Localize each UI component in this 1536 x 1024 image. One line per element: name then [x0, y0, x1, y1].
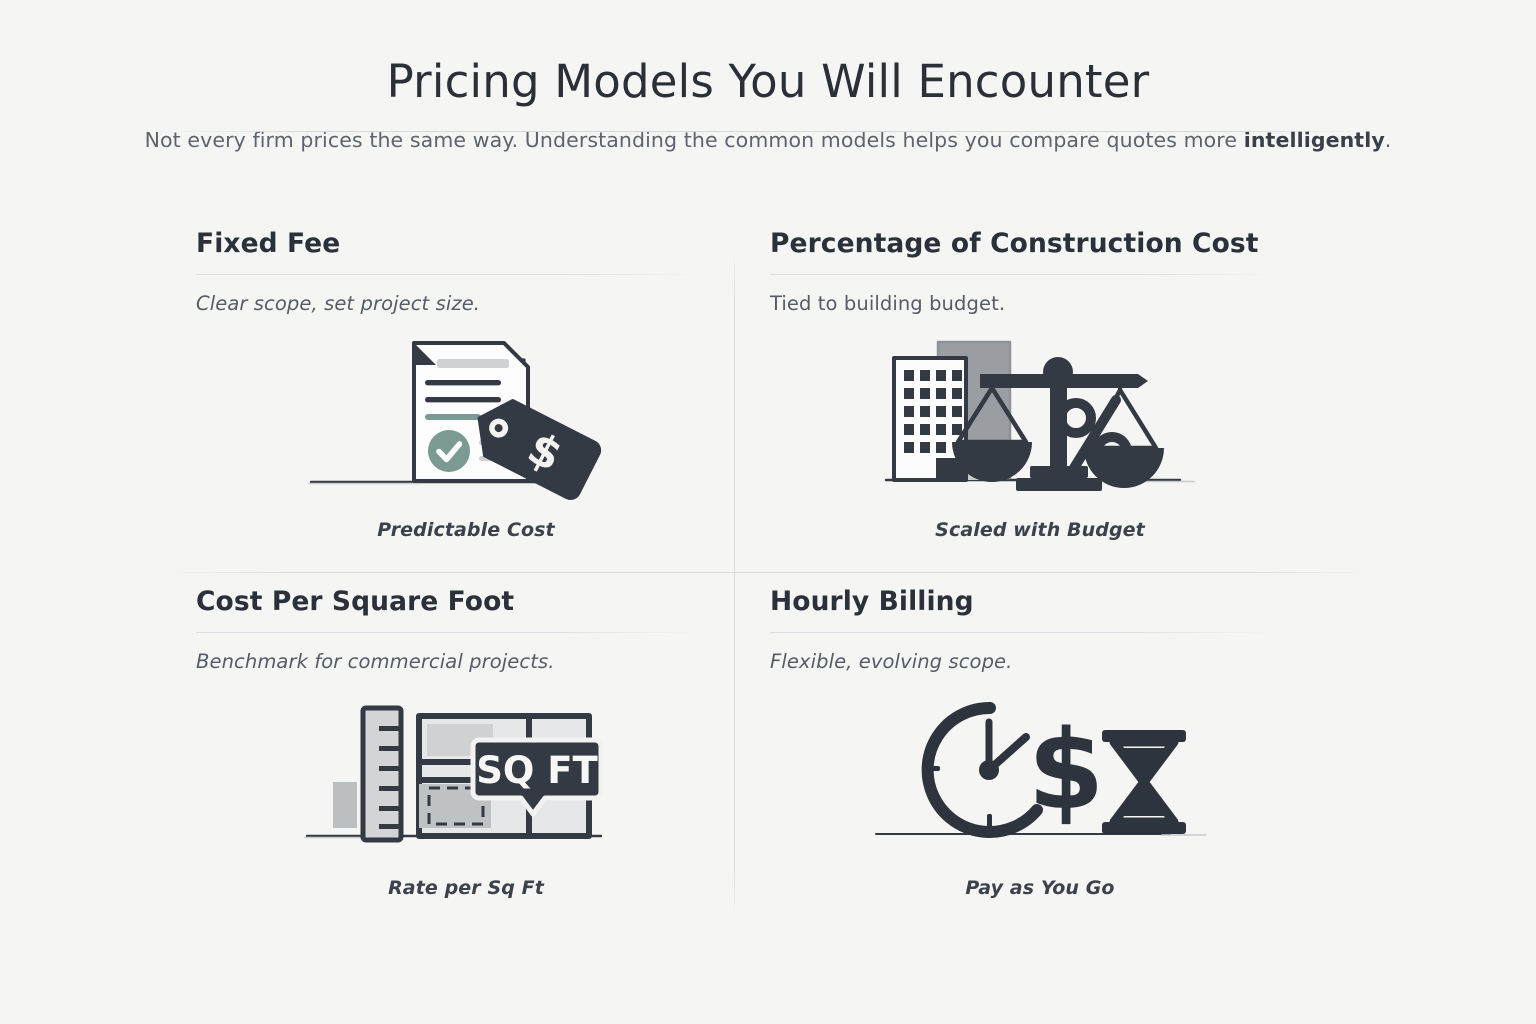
clock-dollar-hourglass-illustration: $ [770, 687, 1310, 865]
card-title: Hourly Billing [770, 586, 1310, 618]
card-caption: Predictable Cost [196, 507, 736, 541]
page-title: Pricing Models You Will Encounter [0, 0, 1536, 108]
header-divider [166, 131, 1370, 132]
pricing-models-infographic: Pricing Models You Will Encounter Not ev… [0, 0, 1536, 1024]
subtitle-tail: . [1385, 128, 1392, 152]
svg-text:$: $ [1028, 706, 1105, 834]
card-subtitle: Benchmark for commercial projects. [196, 633, 736, 673]
card-subtitle: Tied to building budget. [770, 275, 1310, 315]
card-caption: Scaled with Budget [770, 507, 1310, 541]
page-header: Pricing Models You Will Encounter Not ev… [0, 0, 1536, 152]
grid-horizontal-divider [166, 572, 1370, 573]
card-title: Cost Per Square Foot [196, 586, 736, 618]
card-title: Percentage of Construction Cost [770, 228, 1310, 260]
card-title: Fixed Fee [196, 228, 736, 260]
floorplan-ruler-illustration: SQ FT [196, 687, 736, 865]
page-subtitle: Not every firm prices the same way. Unde… [0, 108, 1536, 152]
cards-grid: Fixed Fee Clear scope, set project size. [0, 228, 1536, 928]
card-percentage-of-construction-cost: Percentage of Construction Cost Tied to … [770, 228, 1310, 541]
card-cost-per-square-foot: Cost Per Square Foot Benchmark for comme… [196, 586, 736, 899]
card-caption: Rate per Sq Ft [196, 865, 736, 899]
card-subtitle: Clear scope, set project size. [196, 275, 736, 315]
card-caption: Pay as You Go [770, 865, 1310, 899]
building-scales-percent-illustration [770, 329, 1310, 507]
card-fixed-fee: Fixed Fee Clear scope, set project size. [196, 228, 736, 541]
document-price-tag-illustration: $ [196, 329, 736, 507]
card-subtitle: Flexible, evolving scope. [770, 633, 1310, 673]
sq-ft-badge-label: SQ FT [476, 749, 598, 792]
card-hourly-billing: Hourly Billing Flexible, evolving scope. [770, 586, 1310, 899]
